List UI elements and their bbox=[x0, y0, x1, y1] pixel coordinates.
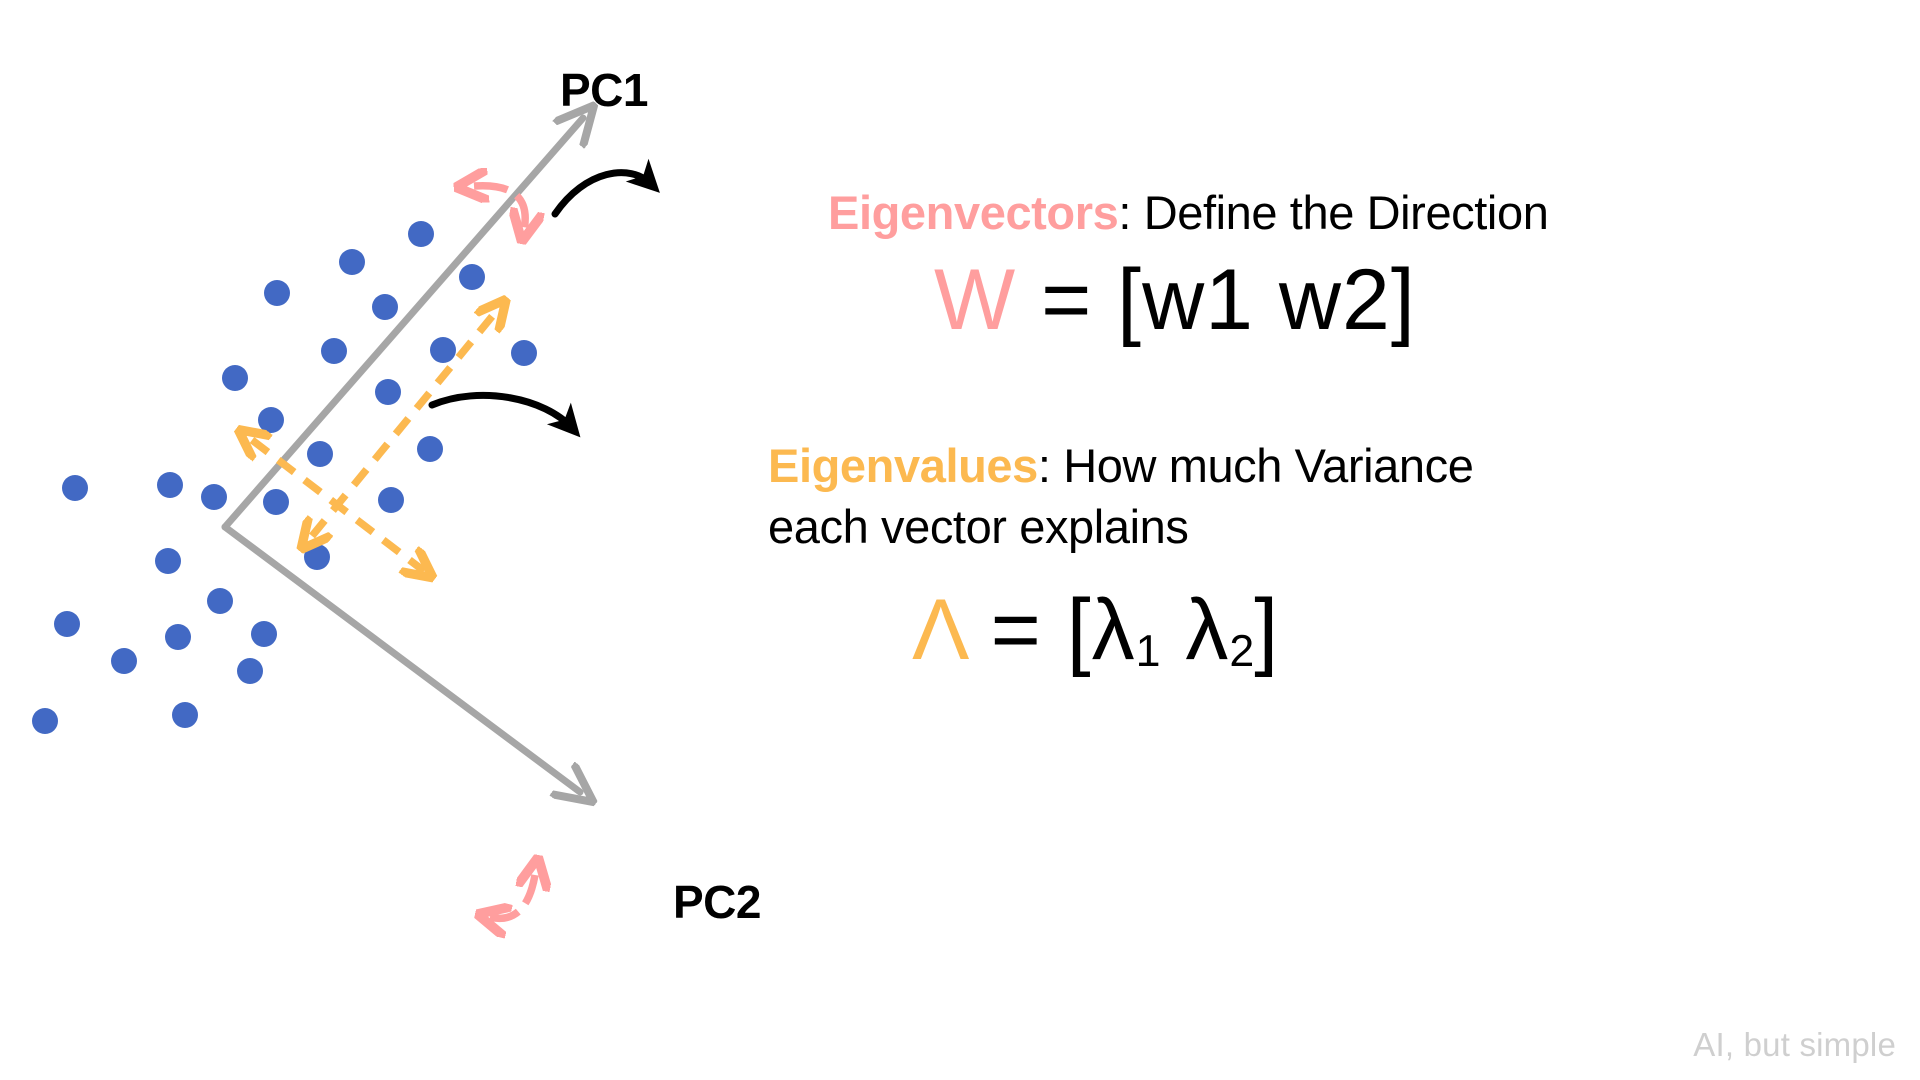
rotation-arc-group bbox=[474, 186, 535, 919]
scatter-point bbox=[304, 544, 330, 570]
pc2-axis-label: PC2 bbox=[673, 875, 761, 929]
eigenvectors-description: : Define the Direction bbox=[1118, 186, 1548, 239]
scatter-point bbox=[201, 484, 227, 510]
eigenvalues-headline: Eigenvalues: How much Variance each vect… bbox=[768, 435, 1474, 557]
scatter-point bbox=[375, 379, 401, 405]
scatter-point bbox=[157, 472, 183, 498]
pc1-axis-arrow bbox=[225, 118, 583, 527]
infographic-canvas: PC1 PC2 Eigenvectors: Define the Directi… bbox=[0, 0, 1920, 1080]
pc1-axis-label: PC1 bbox=[560, 63, 648, 117]
scatter-point bbox=[155, 548, 181, 574]
scatter-point bbox=[111, 648, 137, 674]
lambda-1-subscript: 1 bbox=[1136, 627, 1161, 676]
scatter-point bbox=[258, 407, 284, 433]
lambda-1: λ bbox=[1092, 582, 1136, 678]
lambda-2: λ bbox=[1185, 582, 1229, 678]
pc2-axis-arrow bbox=[225, 527, 580, 792]
lambda-equals: = [ bbox=[966, 582, 1092, 678]
eigenvalues-line-2: each vector explains bbox=[768, 496, 1474, 557]
pc-axes-group bbox=[225, 118, 583, 792]
eigenvectors-keyword: Eigenvectors bbox=[828, 186, 1118, 239]
scatter-point bbox=[251, 621, 277, 647]
eigenvectors-headline: Eigenvectors: Define the Direction bbox=[828, 182, 1548, 243]
scatter-point bbox=[264, 280, 290, 306]
scatter-point bbox=[307, 441, 333, 467]
scatter-point bbox=[222, 365, 248, 391]
pc2-rotation-arc bbox=[489, 875, 535, 918]
scatter-point bbox=[408, 221, 434, 247]
scatter-point bbox=[54, 611, 80, 637]
scatter-point bbox=[417, 436, 443, 462]
scatter-point bbox=[372, 294, 398, 320]
watermark-text: AI, but simple bbox=[1693, 1026, 1896, 1064]
lambda-2-subscript: 2 bbox=[1229, 627, 1254, 676]
eigenvector-matrix-formula: W = [w1 w2] bbox=[934, 257, 1416, 343]
scatter-point bbox=[165, 624, 191, 650]
scatter-point bbox=[511, 340, 537, 366]
scatter-point bbox=[172, 702, 198, 728]
scatter-point bbox=[378, 487, 404, 513]
eigenvalues-description: : How much Variance bbox=[1038, 439, 1474, 492]
scatter-point bbox=[237, 658, 263, 684]
scatter-point bbox=[430, 337, 456, 363]
scatter-point bbox=[263, 489, 289, 515]
eigenvalue-matrix-formula: Λ = [λ1 λ2] bbox=[912, 587, 1279, 673]
lambda-gap bbox=[1160, 582, 1185, 678]
eigenvalues-keyword: Eigenvalues bbox=[768, 439, 1038, 492]
scatter-point bbox=[207, 588, 233, 614]
scatter-point bbox=[32, 708, 58, 734]
w-symbol: W bbox=[934, 252, 1016, 348]
scatter-point-group bbox=[32, 221, 537, 734]
lambda-uppercase-symbol: Λ bbox=[912, 582, 966, 678]
eigenvector-callout-arrow bbox=[555, 173, 651, 214]
eigenvalue-callout-arrow bbox=[432, 395, 572, 428]
scatter-point bbox=[321, 338, 347, 364]
eigenvalues-line-1: Eigenvalues: How much Variance bbox=[768, 435, 1474, 496]
w-formula-body: = [w1 w2] bbox=[1016, 252, 1416, 348]
variance-arrow-group bbox=[252, 308, 499, 571]
scatter-point bbox=[62, 475, 88, 501]
scatter-point bbox=[339, 249, 365, 275]
scatter-point bbox=[459, 264, 485, 290]
callout-arrow-group bbox=[432, 173, 651, 428]
lambda-close-bracket: ] bbox=[1254, 582, 1279, 678]
